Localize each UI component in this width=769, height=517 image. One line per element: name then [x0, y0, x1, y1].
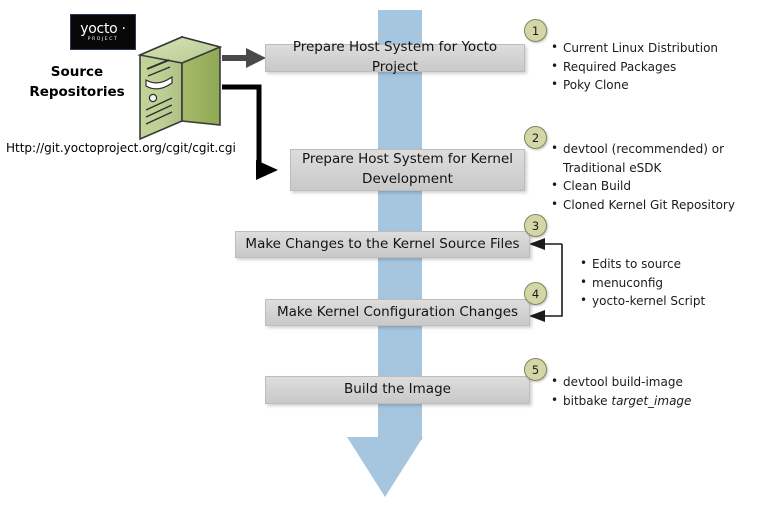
yocto-project-logo: yocto · PROJECT	[70, 14, 136, 50]
step-number-3-text: 3	[532, 219, 539, 233]
list-item: Poky Clone	[551, 76, 761, 95]
list-item: devtool build-image	[551, 373, 761, 392]
step-number-badge-2: 2	[524, 126, 547, 149]
step-number-badge-5: 5	[524, 358, 547, 381]
list-item: devtool (recommended) or Traditional eSD…	[551, 140, 763, 177]
bullet-list-steps-3-and-4: Edits to source menuconfig yocto-kernel …	[580, 255, 760, 311]
list-item: Cloned Kernel Git Repository	[551, 196, 763, 215]
source-repositories-label-line1: Source	[12, 63, 142, 83]
process-box-step-5[interactable]: Build the Image	[265, 376, 530, 404]
step-number-5-text: 5	[532, 363, 539, 377]
list-item: Current Linux Distribution	[551, 39, 761, 58]
bullet-list-step-1: Current Linux Distribution Required Pack…	[551, 39, 761, 95]
bitbake-command-prefix: bitbake	[563, 394, 611, 408]
list-item: Edits to source	[580, 255, 760, 274]
step-number-badge-1: 1	[524, 19, 547, 42]
source-repositories-label: Source Repositories	[12, 63, 142, 102]
process-box-step-1[interactable]: Prepare Host System for Yocto Project	[265, 44, 525, 72]
step-number-badge-4: 4	[524, 282, 547, 305]
process-box-step-1-label: Prepare Host System for Yocto Project	[274, 38, 516, 77]
list-item: menuconfig	[580, 274, 760, 293]
bracket-step3-step4	[529, 238, 562, 322]
process-box-step-2-label: Prepare Host System for Kernel Developme…	[299, 150, 516, 189]
process-box-step-3-label: Make Changes to the Kernel Source Files	[245, 235, 519, 255]
process-box-step-4-label: Make Kernel Configuration Changes	[277, 303, 518, 323]
step-number-badge-3: 3	[524, 214, 547, 237]
logo-subtext: PROJECT	[88, 38, 119, 43]
process-box-step-4[interactable]: Make Kernel Configuration Changes	[265, 299, 530, 326]
list-item: Required Packages	[551, 58, 761, 77]
list-item: bitbake target_image	[551, 392, 761, 411]
process-box-step-3[interactable]: Make Changes to the Kernel Source Files	[235, 231, 530, 258]
bullet-list-step-2: devtool (recommended) or Traditional eSD…	[551, 140, 763, 214]
logo-wordmark: yocto ·	[80, 22, 125, 36]
source-repositories-label-line2: Repositories	[12, 83, 142, 103]
step-number-4-text: 4	[532, 287, 539, 301]
arrow-server-to-step2	[222, 87, 278, 180]
kernel-development-workflow-diagram: yocto · PROJECT Source Repositories Http…	[0, 0, 769, 517]
list-item: Clean Build	[551, 177, 763, 196]
bitbake-target-image-arg: target_image	[611, 394, 691, 408]
process-box-step-5-label: Build the Image	[344, 380, 451, 400]
repository-url-text: Http://git.yoctoproject.org/cgit/cgit.cg…	[6, 141, 236, 155]
process-box-step-2[interactable]: Prepare Host System for Kernel Developme…	[290, 149, 525, 191]
bullet-list-step-5: devtool build-image bitbake target_image	[551, 373, 761, 410]
list-item: yocto-kernel Script	[580, 292, 760, 311]
step-number-1-text: 1	[532, 24, 539, 38]
server-icon	[136, 25, 224, 143]
step-number-2-text: 2	[532, 131, 539, 145]
arrow-server-to-step1	[222, 48, 266, 68]
